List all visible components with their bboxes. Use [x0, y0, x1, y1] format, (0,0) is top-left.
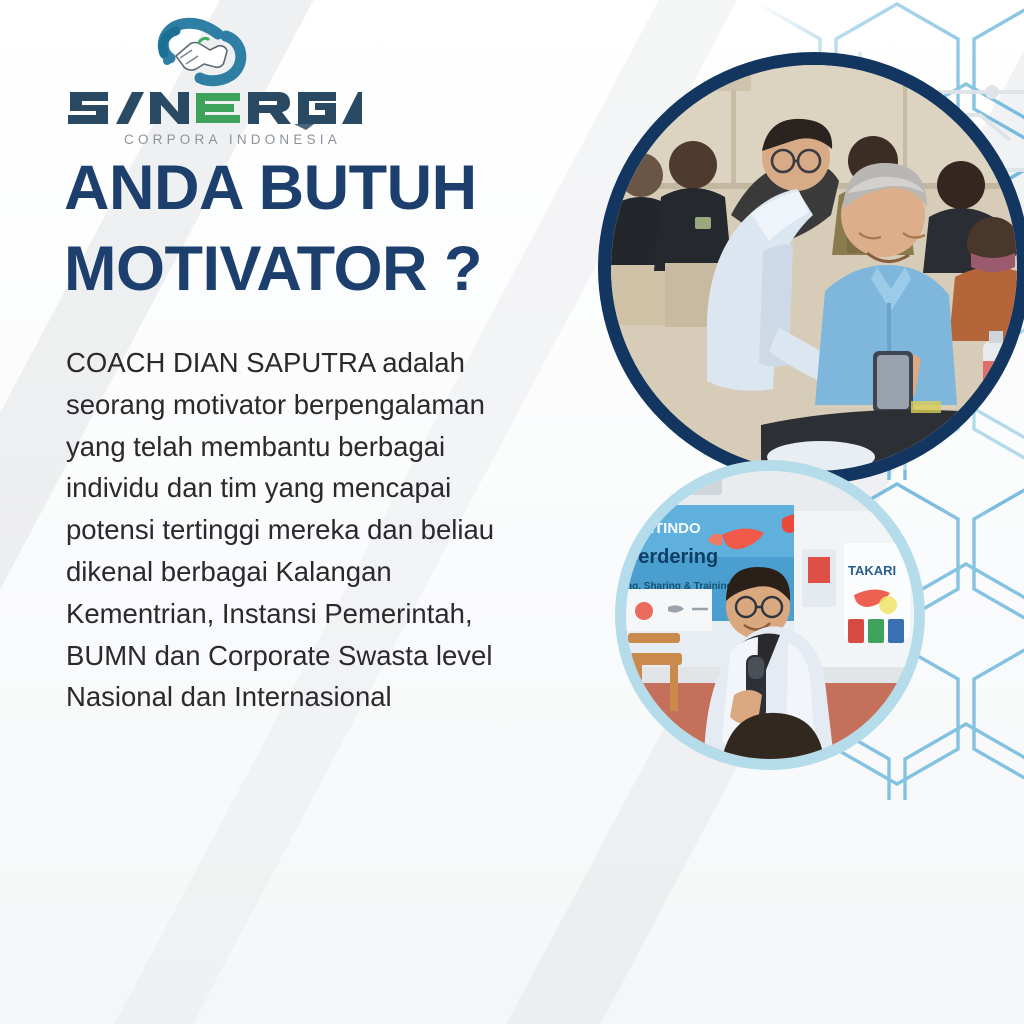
headline-line-2: MOTIVATOR ?	[64, 229, 584, 310]
svg-text:PETINDO: PETINDO	[634, 520, 701, 537]
main-photo	[598, 52, 1024, 484]
brand-logo: CORPORA INDONESIA	[62, 14, 362, 146]
contact-bar: BOOK NOW Phone Number 0822-4500-9200	[0, 812, 1024, 902]
poster-canvas: CORPORA INDONESIA ANDA BUTUH MOTIVATOR ?…	[0, 0, 1024, 1024]
page-title: ANDA BUTUH MOTIVATOR ?	[64, 148, 584, 309]
body-paragraph: COACH DIAN SAPUTRA adalah seorang motiva…	[66, 342, 506, 718]
headline-line-1: ANDA BUTUH	[64, 153, 477, 223]
svg-text:TAKARI: TAKARI	[848, 563, 896, 578]
secondary-photo: PETINDO berdering ng, Sharing & Training…	[615, 460, 925, 770]
logo-tagline: CORPORA INDONESIA	[124, 132, 341, 147]
logo-wordmark	[62, 82, 362, 130]
svg-text:berdering: berdering	[626, 546, 718, 568]
